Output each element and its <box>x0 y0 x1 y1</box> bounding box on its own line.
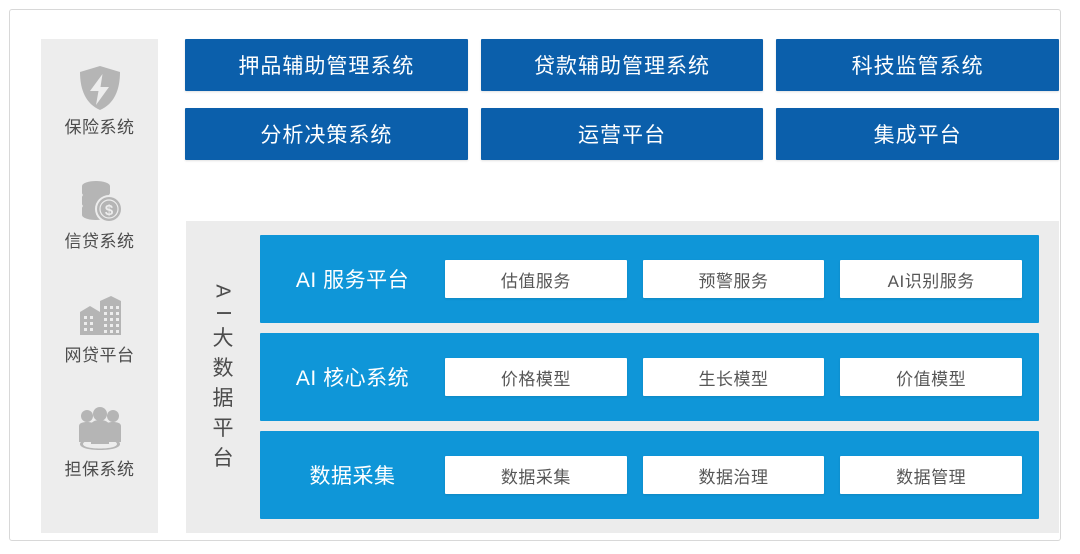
system-button-collateral-aid[interactable]: 押品辅助管理系统 <box>185 39 468 91</box>
system-button-tech-supervision[interactable]: 科技监管系统 <box>776 39 1059 91</box>
vertical-char-ju: 据 <box>213 384 234 414</box>
vertical-char-i: I <box>212 311 234 317</box>
sidebar: 保险系统 $ 信贷 <box>41 39 158 533</box>
card-data-governance[interactable]: 数据治理 <box>643 456 825 494</box>
svg-text:$: $ <box>104 202 113 219</box>
sidebar-item-insurance[interactable]: 保险系统 <box>41 61 158 175</box>
platform-row-data-collection: 数据采集 数据采集 数据治理 数据管理 <box>260 431 1039 519</box>
vertical-char-ping: 平 <box>213 414 234 444</box>
platform-row-ai-service: AI 服务平台 估值服务 预警服务 AI识别服务 <box>260 235 1039 323</box>
row-title-ai-service: AI 服务平台 <box>260 264 445 294</box>
card-ai-recognition-service[interactable]: AI识别服务 <box>840 260 1022 298</box>
buildings-icon <box>73 289 127 343</box>
card-alert-service[interactable]: 预警服务 <box>643 260 825 298</box>
vertical-char-tai: 台 <box>213 444 234 474</box>
card-data-collection[interactable]: 数据采集 <box>445 456 627 494</box>
card-valuation-service[interactable]: 估值服务 <box>445 260 627 298</box>
vertical-char-a: A <box>212 285 234 298</box>
sidebar-item-online-loan[interactable]: 网贷平台 <box>41 289 158 403</box>
sidebar-item-label: 担保系统 <box>65 461 135 478</box>
system-button-operations-platform[interactable]: 运营平台 <box>481 108 764 160</box>
top-systems-row-2: 分析决策系统 运营平台 集成平台 <box>185 108 1059 160</box>
row-cards-ai-core: 价格模型 生长模型 价值模型 <box>445 358 1039 396</box>
platform-row-ai-core: AI 核心系统 价格模型 生长模型 价值模型 <box>260 333 1039 421</box>
sidebar-item-label: 网贷平台 <box>65 347 135 364</box>
ai-bigdata-platform-panel: A I 大 数 据 平 台 AI 服务平台 估值服务 预警服务 AI识别服务 A… <box>186 221 1059 533</box>
diagram-frame: 保险系统 $ 信贷 <box>9 9 1061 541</box>
top-systems-area: 押品辅助管理系统 贷款辅助管理系统 科技监管系统 分析决策系统 运营平台 集成平… <box>185 39 1059 177</box>
card-value-model[interactable]: 价值模型 <box>840 358 1022 396</box>
sidebar-item-label: 信贷系统 <box>65 233 135 250</box>
system-button-integration-platform[interactable]: 集成平台 <box>776 108 1059 160</box>
row-title-ai-core: AI 核心系统 <box>260 362 445 392</box>
sidebar-item-label: 保险系统 <box>65 119 135 136</box>
platform-rows: AI 服务平台 估值服务 预警服务 AI识别服务 AI 核心系统 价格模型 生长… <box>260 235 1039 519</box>
vertical-char-da: 大 <box>213 324 234 354</box>
people-group-icon <box>73 403 127 457</box>
sidebar-item-guarantee[interactable]: 担保系统 <box>41 403 158 517</box>
platform-vertical-label: A I 大 数 据 平 台 <box>186 235 260 519</box>
card-growth-model[interactable]: 生长模型 <box>643 358 825 396</box>
coins-dollar-icon: $ <box>73 175 127 229</box>
row-cards-data-collection: 数据采集 数据治理 数据管理 <box>445 456 1039 494</box>
card-price-model[interactable]: 价格模型 <box>445 358 627 396</box>
card-data-management[interactable]: 数据管理 <box>840 456 1022 494</box>
shield-bolt-icon <box>73 61 127 115</box>
top-systems-row-1: 押品辅助管理系统 贷款辅助管理系统 科技监管系统 <box>185 39 1059 91</box>
system-button-loan-aid[interactable]: 贷款辅助管理系统 <box>481 39 764 91</box>
sidebar-item-credit[interactable]: $ 信贷系统 <box>41 175 158 289</box>
system-button-analysis-decision[interactable]: 分析决策系统 <box>185 108 468 160</box>
row-title-data-collection: 数据采集 <box>260 460 445 490</box>
vertical-char-shu: 数 <box>213 354 234 384</box>
row-cards-ai-service: 估值服务 预警服务 AI识别服务 <box>445 260 1039 298</box>
